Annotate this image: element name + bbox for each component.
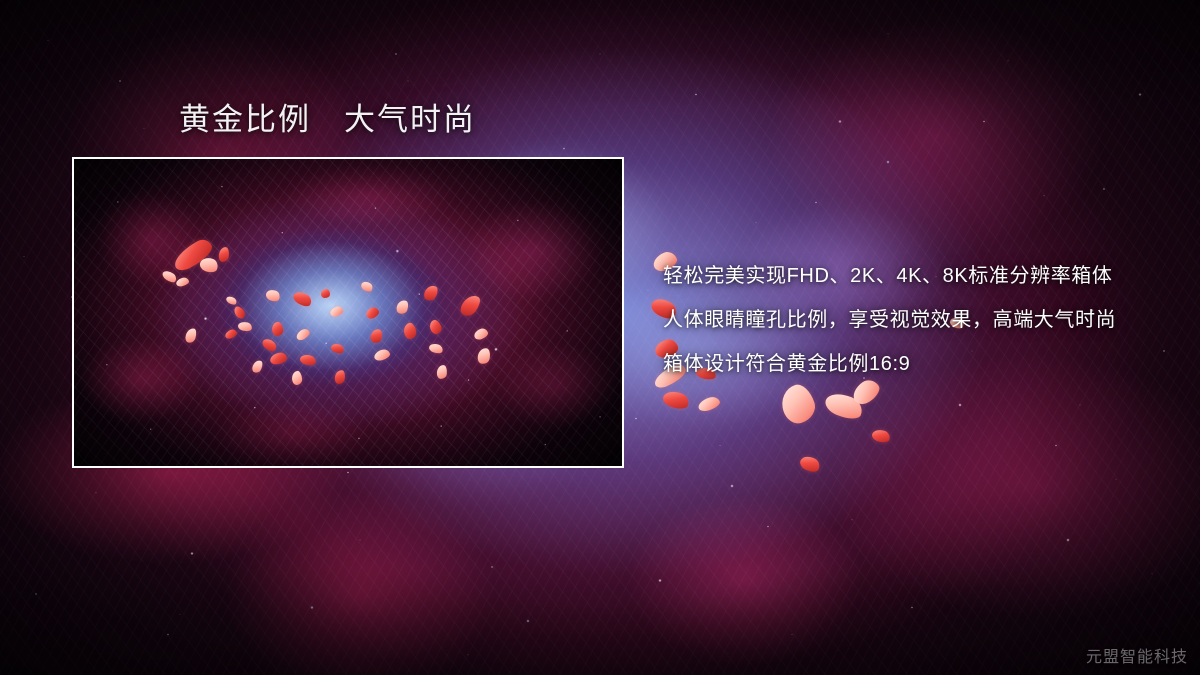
flower-petal bbox=[871, 428, 892, 444]
page-title: 黄金比例 大气时尚 bbox=[179, 100, 476, 140]
flower-petal bbox=[798, 453, 822, 474]
flower-petal bbox=[661, 388, 691, 411]
company-watermark: 元盟智能科技 bbox=[1086, 643, 1188, 667]
photo-image bbox=[74, 159, 622, 466]
framed-photo bbox=[72, 157, 624, 468]
flower-petal bbox=[822, 389, 865, 424]
description-line: 轻松完美实现FHD、2K、4K、8K标准分辨率箱体 bbox=[663, 254, 1183, 298]
flower-petal bbox=[777, 381, 819, 427]
feature-description-block: 轻松完美实现FHD、2K、4K、8K标准分辨率箱体 人体眼睛瞳孔比例，享受视觉效… bbox=[663, 254, 1183, 386]
photo-vignette bbox=[74, 159, 622, 466]
flower-petal bbox=[697, 395, 722, 413]
presentation-slide: 黄金比例 大气时尚 轻松完美实现FHD、2K、4K、8K标准分辨率箱体 人体眼睛… bbox=[0, 0, 1200, 675]
description-line: 箱体设计符合黄金比例16:9 bbox=[663, 342, 1183, 386]
description-line: 人体眼睛瞳孔比例，享受视觉效果，高端大气时尚 bbox=[663, 298, 1183, 342]
